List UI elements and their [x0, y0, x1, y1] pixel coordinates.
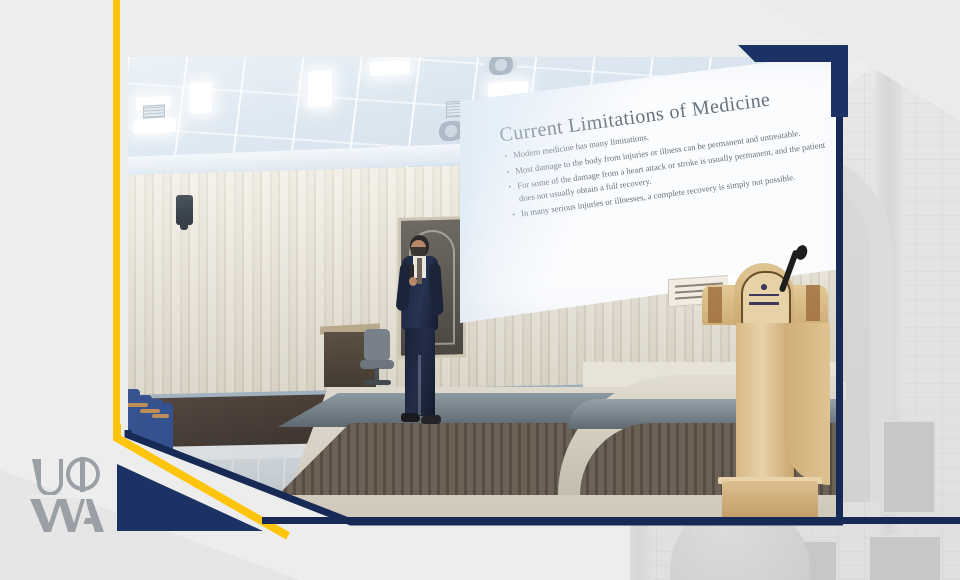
wall-mounted-speaker: [176, 195, 193, 225]
photo-right-navy-edge: [836, 57, 843, 522]
podium-emblem-icon: [749, 281, 779, 315]
podium-base: [722, 481, 818, 521]
navy-corner-bracket: [738, 45, 848, 117]
presenter-shoe-left: [401, 413, 420, 422]
uowa-logo: [28, 455, 104, 533]
ceiling-panel-light-4: [308, 70, 332, 107]
yellow-vertical-rule: [113, 0, 120, 437]
presenter-tie: [417, 258, 422, 284]
podium-inlay-left: [708, 287, 722, 323]
ceiling-panel-light-7: [370, 60, 410, 76]
presenter-right-arm: [428, 263, 444, 316]
presenter-hand: [409, 277, 417, 286]
ceiling-air-vent-2: [143, 104, 165, 118]
presenter-leg-gap: [418, 355, 421, 415]
seat-armrest: [152, 414, 169, 418]
slide-canvas: Current Limitations of Medicine Modern m…: [0, 0, 960, 580]
seat-armrest: [128, 403, 148, 407]
podium-curved-side: [784, 323, 830, 485]
presenter-shoe-right: [421, 415, 441, 424]
ceiling-panel-light-3: [190, 82, 212, 113]
building-window-lower-right: [882, 420, 936, 514]
building-window-bottom-b: [868, 535, 942, 580]
podium: [700, 255, 830, 522]
uowa-logo-mark: [28, 455, 104, 533]
navy-bottom-bar: [262, 517, 960, 524]
office-chair: [360, 329, 394, 389]
chair-back: [364, 329, 390, 361]
seat-armrest: [140, 409, 160, 413]
chair-base: [363, 380, 391, 385]
ceiling-panel-light-2: [134, 118, 176, 134]
presenter: [396, 235, 444, 431]
podium-inlay-right: [806, 285, 820, 321]
